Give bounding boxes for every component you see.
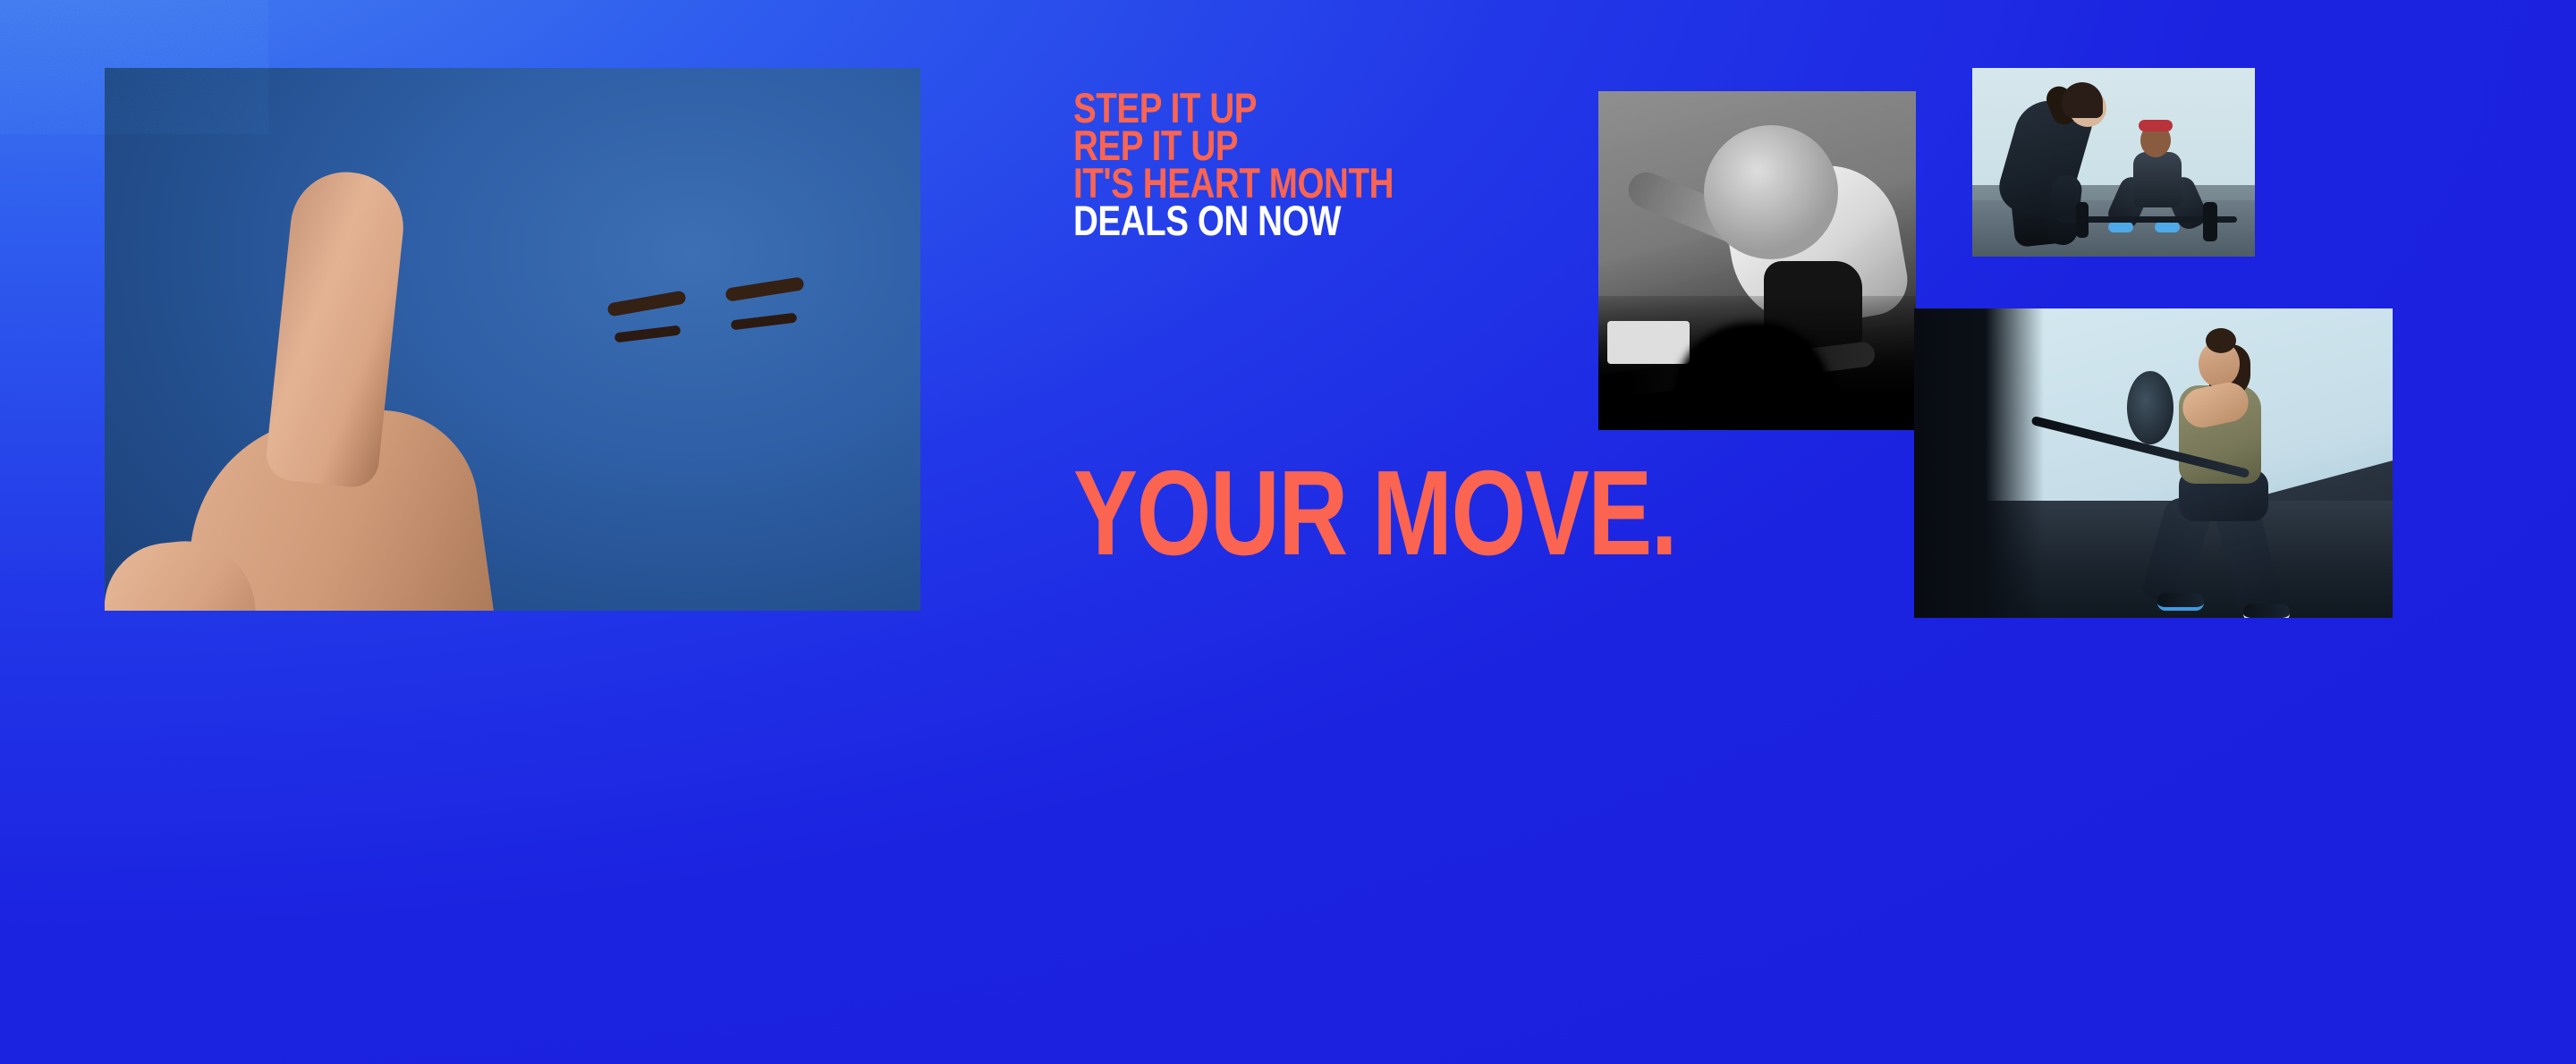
lunge-barbell-plate — [2127, 371, 2173, 444]
spin-bike-photo — [1598, 91, 1916, 430]
promo-banner: STEP IT UP REP IT UP IT'S HEART MONTH DE… — [0, 0, 2576, 1064]
duo-barbell-plate-right — [2203, 202, 2217, 241]
duo-coach-hair — [2062, 82, 2103, 118]
duo-lifter-headband — [2139, 120, 2173, 131]
tagline-your-move: YOUR MOVE. — [1073, 460, 1676, 566]
duo-lifter-shoe-left — [2108, 222, 2133, 232]
lunge-foreground-shadow — [1914, 308, 2044, 618]
lunge-hair-bun — [2206, 328, 2236, 353]
lunge-shoe-back — [2243, 604, 2290, 618]
duo-lifter-shoe-right — [2155, 222, 2180, 232]
spin-bike-console — [1607, 321, 1690, 364]
duo-barbell-plate-left — [2076, 202, 2089, 238]
duo-lifter-torso — [2133, 152, 2182, 207]
barbell-duo-photo — [1972, 68, 2255, 257]
spin-rider-head — [1704, 125, 1838, 259]
lunge-shoe-front — [2157, 593, 2204, 611]
hero-portrait-photo — [105, 68, 920, 611]
landmine-lunge-photo — [1914, 308, 2393, 618]
